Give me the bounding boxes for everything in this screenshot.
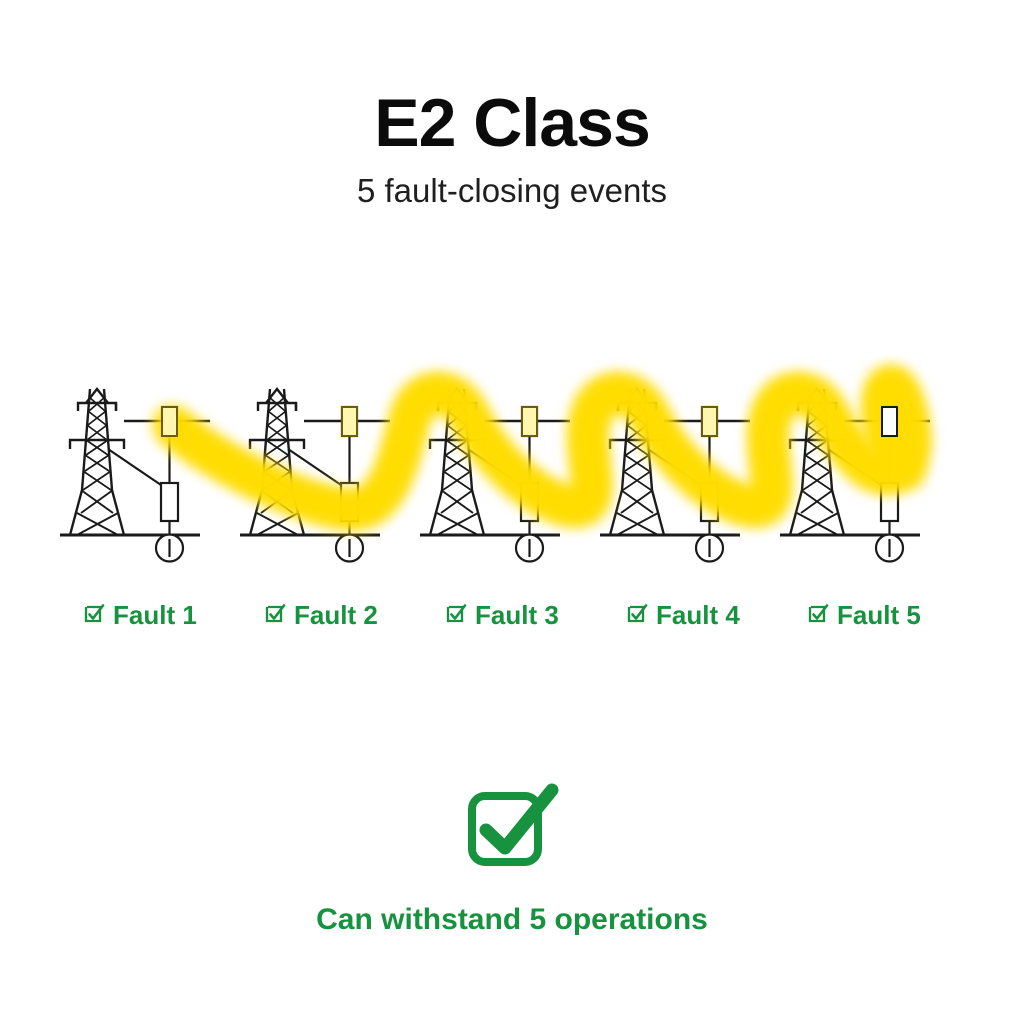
fault-item-4[interactable]: Fault 4 [627, 602, 740, 628]
fault-item-2[interactable]: Fault 2 [265, 602, 378, 628]
checkbox-checked-icon [627, 603, 649, 627]
page-subtitle: 5 fault-closing events [0, 173, 1024, 209]
fault-item-3[interactable]: Fault 3 [446, 602, 559, 628]
towers-diagram [0, 345, 1024, 595]
footer-text: Can withstand 5 operations [0, 903, 1024, 936]
checkbox-checked-icon [808, 603, 830, 627]
infographic-page: E2 Class 5 fault-closing events [0, 0, 1024, 1024]
tower-3 [420, 389, 570, 562]
fault-label: Fault 1 [113, 602, 197, 628]
fault-label: Fault 4 [656, 602, 740, 628]
checkbox-checked-icon [446, 603, 468, 627]
fault-item-1[interactable]: Fault 1 [84, 602, 197, 628]
checkbox-checked-icon [265, 603, 287, 627]
fault-label: Fault 3 [475, 602, 559, 628]
checkbox-checked-icon [462, 782, 562, 878]
fault-scene [0, 345, 1024, 595]
fault-item-5[interactable]: Fault 5 [808, 602, 921, 628]
tower-1 [60, 389, 210, 562]
checkbox-checked-icon [84, 603, 106, 627]
fault-label-row: Fault 1 Fault 2 Fault 3 Fault 4 [0, 602, 1024, 644]
page-title: E2 Class [0, 88, 1024, 159]
header: E2 Class 5 fault-closing events [0, 88, 1024, 210]
fault-label: Fault 2 [294, 602, 378, 628]
fault-label: Fault 5 [837, 602, 921, 628]
tower-4 [600, 389, 750, 562]
footer: Can withstand 5 operations [0, 782, 1024, 936]
